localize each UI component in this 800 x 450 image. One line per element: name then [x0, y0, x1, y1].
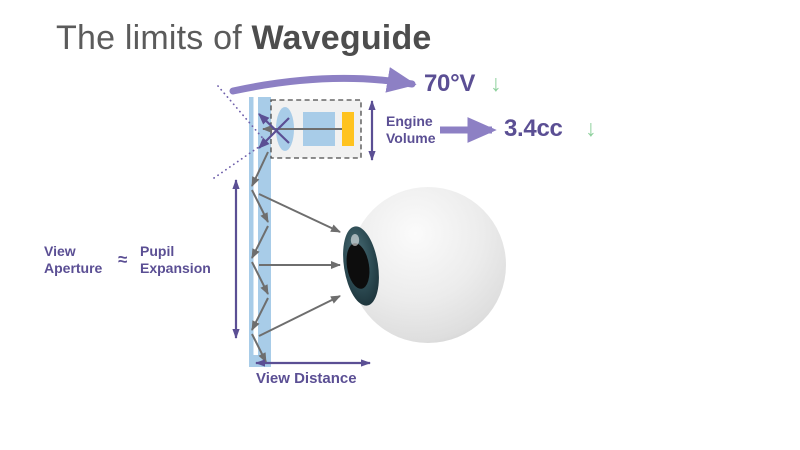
- approx-equals-symbol: ≈: [118, 250, 127, 270]
- fov-value-label: 70°V: [424, 70, 475, 98]
- view-aperture-label: View Aperture: [44, 243, 102, 276]
- engine-volume-label: Engine Volume: [386, 113, 436, 146]
- waveguide-slab: [249, 97, 271, 367]
- diagram-canvas: The limits of Waveguide: [0, 0, 800, 450]
- pupil-expansion-label: Pupil Expansion: [140, 243, 211, 276]
- down-arrow-icon-engine-volume: ↓: [585, 117, 597, 140]
- down-arrow-icon-fov: ↓: [490, 72, 502, 95]
- iris-highlight: [351, 234, 359, 246]
- schematic-artwork: [0, 0, 800, 450]
- output-rays-to-eye: [259, 194, 340, 336]
- fov-sweep-arrow: [233, 78, 412, 91]
- microdisplay: [342, 112, 354, 146]
- eyeball: [338, 187, 506, 343]
- view-distance-label: View Distance: [256, 370, 357, 388]
- engine-volume-value: 3.4cc: [504, 115, 563, 143]
